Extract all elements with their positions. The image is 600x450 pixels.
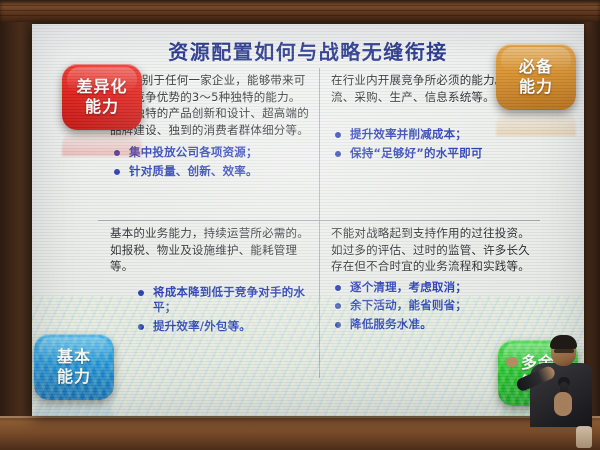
water-bottle <box>576 426 592 448</box>
bullet-item: 将成本降到低于竞争对手的水平； <box>134 285 309 316</box>
quadrant-bullet-list: 提升效率并削减成本； 保持“足够好”的水平即可 <box>331 127 530 161</box>
presenter-forearm <box>554 392 572 416</box>
bullet-item: 提升效率并削减成本； <box>331 127 530 143</box>
quadrant-bullet-list: 将成本降到低于竞争对手的水平； 提升效率/外包等。 <box>134 285 309 335</box>
badge-line-1: 差异化 <box>76 77 127 97</box>
badge-line-1: 必备 <box>519 57 553 77</box>
bullet-item: 保持“足够好”的水平即可 <box>331 146 530 162</box>
presentation-slide: 资源配置如何与战略无缝衔接 有别于任何一家企业，能够带来可持续竞争优势的3～5种… <box>32 24 584 416</box>
bullet-item: 针对质量、创新、效率。 <box>110 164 309 180</box>
badge-line-1: 基本 <box>57 347 91 367</box>
quadrant-grid: 有别于任何一家企业，能够带来可持续竞争优势的3～5种独特的能力。例如独特的产品创… <box>98 68 540 386</box>
bullet-item: 余下活动，能省则省； <box>331 298 530 314</box>
badge-differentiating-capability: 差异化 能力 <box>62 64 142 130</box>
badge-line-2: 能力 <box>57 367 91 387</box>
bullet-item: 逐个清理，考虑取消； <box>331 280 530 296</box>
projection-screen: 资源配置如何与战略无缝衔接 有别于任何一家企业，能够带来可持续竞争优势的3～5种… <box>32 24 584 416</box>
presenter-glasses <box>554 349 574 353</box>
conference-room: 资源配置如何与战略无缝衔接 有别于任何一家企业，能够带来可持续竞争优势的3～5种… <box>0 0 600 450</box>
front-desk <box>0 416 600 450</box>
badge-line-2: 能力 <box>519 77 553 97</box>
badge-reflection <box>34 400 114 416</box>
badge-line-2: 能力 <box>85 97 119 117</box>
quadrant-bullet-list: 逐个清理，考虑取消； 余下活动，能省则省； 降低服务水准。 <box>331 280 530 333</box>
quadrant-basic: 基本的业务能力，持续运营所必需的。如报税、物业及设施维护、能耗管理等。 将成本降… <box>98 221 319 337</box>
quadrant-redundant: 不能对战略起到支持作用的过往投资。如过多的评估、过时的监管、许多长久存在但不合时… <box>319 221 540 335</box>
ceiling-wood-trim <box>0 0 600 22</box>
bullet-item: 集中投放公司各项资源； <box>110 145 309 161</box>
wall-left <box>0 22 34 450</box>
quadrant-paragraph: 不能对战略起到支持作用的过往投资。如过多的评估、过时的监管、许多长久存在但不合时… <box>331 225 530 275</box>
presenter-hair <box>550 335 577 349</box>
presenter-hand <box>506 357 518 367</box>
bullet-item: 降低服务水准。 <box>331 317 530 333</box>
bullet-item: 提升效率/外包等。 <box>134 319 309 335</box>
presenter <box>524 330 598 426</box>
quadrant-bullet-list: 集中投放公司各项资源； 针对质量、创新、效率。 <box>110 145 309 179</box>
badge-essential-capability: 必备 能力 <box>496 44 576 110</box>
badge-basic-capability: 基本 能力 <box>34 334 114 400</box>
quadrant-paragraph: 基本的业务能力，持续运营所必需的。如报税、物业及设施维护、能耗管理等。 <box>110 225 309 275</box>
